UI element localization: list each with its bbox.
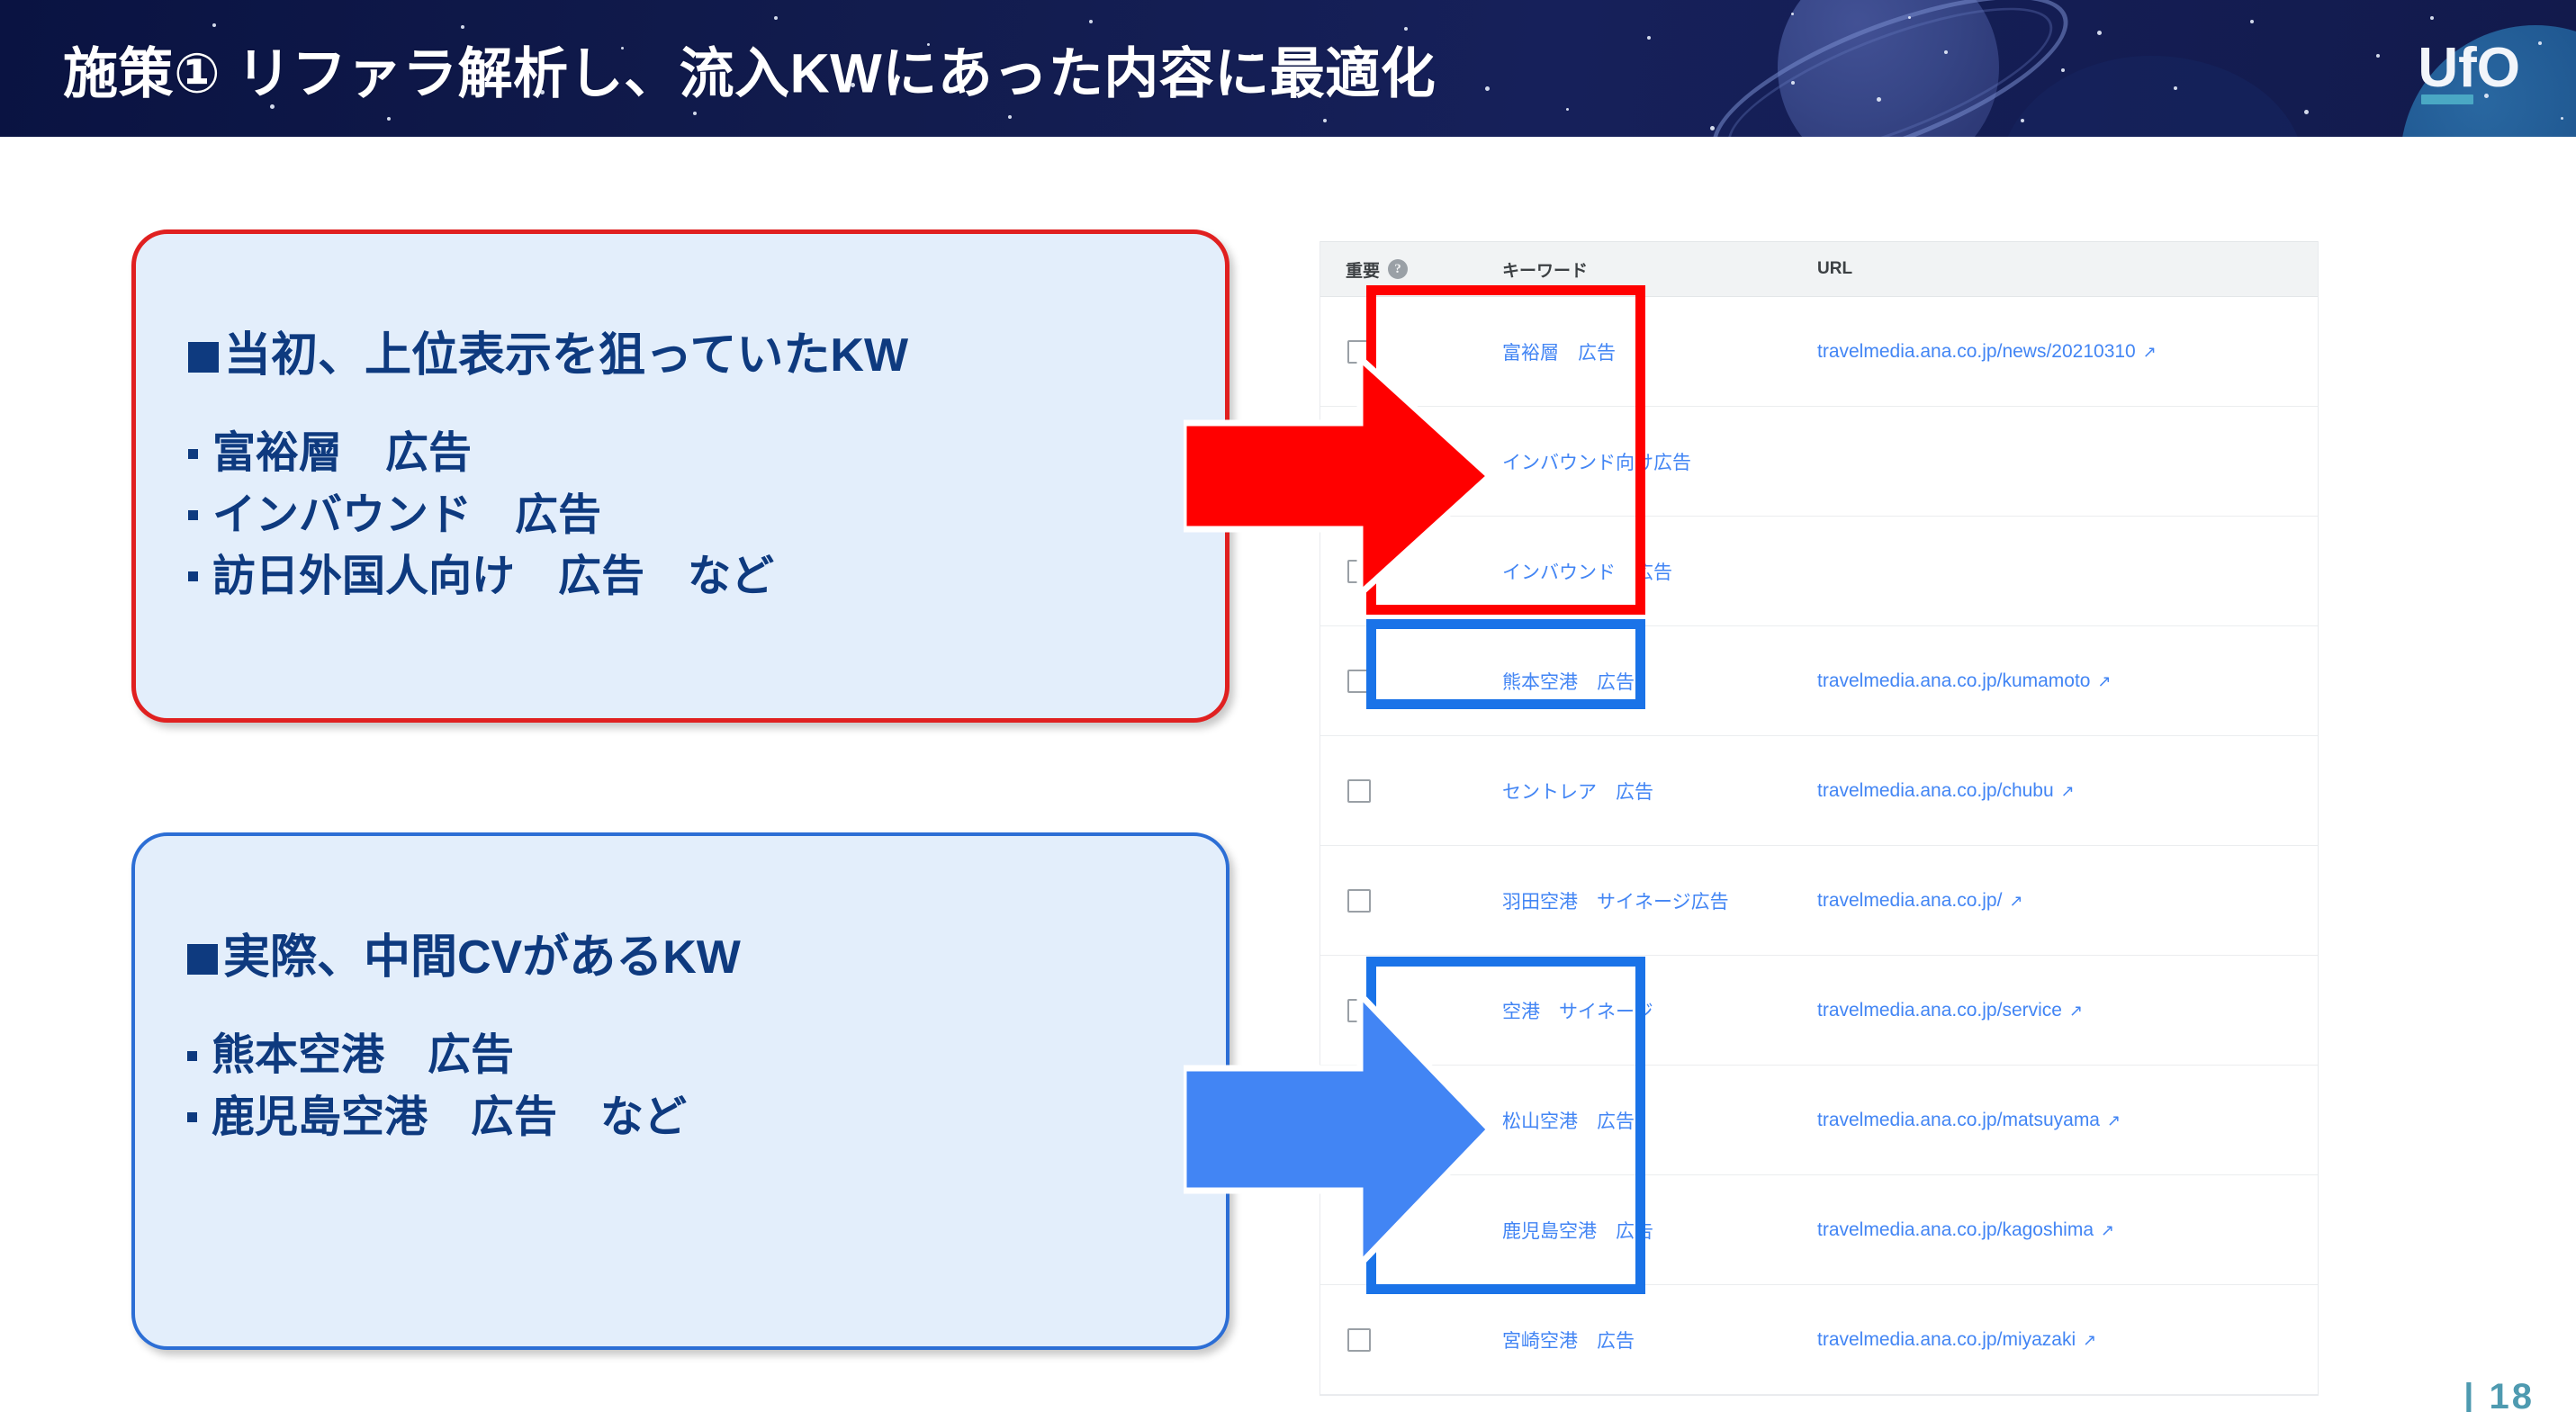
star-icon — [212, 23, 216, 27]
column-header-importance-label: 重要 — [1346, 257, 1380, 282]
star-icon — [1323, 119, 1327, 122]
list-item: 熊本空港 広告 — [187, 1025, 1226, 1086]
bullet-dot-icon — [188, 571, 198, 581]
external-link-icon[interactable]: ↗ — [2143, 343, 2157, 362]
keyword-link[interactable]: 宮崎空港 広告 — [1502, 1331, 1635, 1352]
external-link-icon[interactable]: ↗ — [2009, 892, 2022, 911]
star-icon — [1710, 126, 1715, 130]
nebula-blob — [1998, 56, 2304, 137]
star-icon — [2561, 117, 2563, 120]
callout-1-list: 富裕層 広告 インバウンド 広告 訪日外国人向け 広告 など — [188, 423, 1225, 607]
help-icon[interactable]: ? — [1388, 259, 1408, 279]
url-link[interactable]: travelmedia.ana.co.jp/news/20210310↗ — [1817, 341, 2157, 362]
list-item: インバウンド 広告 — [188, 485, 1225, 546]
column-header-url: URL — [1806, 259, 2318, 279]
url-link[interactable]: travelmedia.ana.co.jp/kagoshima↗ — [1817, 1219, 2114, 1240]
callout-actual-mid-cv-kw: 実際、中間CVがあるKW 熊本空港 広告 鹿児島空港 広告 など — [131, 832, 1229, 1350]
red-arrow-icon — [1184, 358, 1490, 594]
external-link-icon[interactable]: ↗ — [2061, 782, 2075, 801]
page-title: 施策① リファラ解析し、流入KWにあった内容に最適化 — [63, 29, 1436, 109]
list-item: 富裕層 広告 — [188, 423, 1225, 484]
cell-url: travelmedia.ana.co.jp/matsuyama↗ — [1806, 1110, 2318, 1131]
external-link-icon[interactable]: ↗ — [2101, 1221, 2114, 1240]
url-link[interactable]: travelmedia.ana.co.jp/miyazaki↗ — [1817, 1329, 2096, 1350]
external-link-icon[interactable]: ↗ — [2107, 1111, 2121, 1130]
blue-arrow-icon — [1184, 994, 1490, 1264]
keyword-link[interactable]: セントレア 広告 — [1502, 782, 1653, 803]
cell-url: travelmedia.ana.co.jp/chubu↗ — [1806, 780, 2318, 802]
star-icon — [387, 117, 391, 121]
bullet-dot-icon — [187, 1112, 197, 1122]
cell-url: travelmedia.ana.co.jp/news/20210310↗ — [1806, 341, 2318, 363]
star-icon — [2021, 119, 2024, 122]
star-icon — [2304, 110, 2309, 114]
star-icon — [2061, 68, 2065, 72]
cell-importance — [1320, 779, 1455, 803]
bullet-dot-icon — [187, 1051, 197, 1061]
bullet-square-icon — [188, 342, 219, 373]
cell-url: travelmedia.ana.co.jp/↗ — [1806, 890, 2318, 912]
app-logo: UfO — [2418, 40, 2520, 96]
callout-1-heading: 当初、上位表示を狙っていたKW — [188, 328, 1225, 383]
url-link[interactable]: travelmedia.ana.co.jp/matsuyama↗ — [1817, 1110, 2121, 1130]
table-row[interactable]: 羽田空港 サイネージ広告travelmedia.ana.co.jp/↗ — [1320, 846, 2318, 956]
cell-url: travelmedia.ana.co.jp/kumamoto↗ — [1806, 670, 2318, 692]
star-icon — [693, 112, 697, 115]
cell-url: travelmedia.ana.co.jp/kagoshima↗ — [1806, 1219, 2318, 1241]
list-item: 鹿児島空港 広告 など — [187, 1087, 1226, 1148]
star-icon — [1566, 108, 1569, 111]
star-icon — [1944, 50, 1948, 54]
cell-url: travelmedia.ana.co.jp/miyazaki↗ — [1806, 1329, 2318, 1351]
list-item: 訪日外国人向け 広告 など — [188, 546, 1225, 607]
star-icon — [1877, 97, 1881, 102]
url-link[interactable]: travelmedia.ana.co.jp/chubu↗ — [1817, 780, 2075, 801]
cell-keyword: 宮崎空港 広告 — [1455, 1327, 1806, 1354]
external-link-icon[interactable]: ↗ — [2098, 672, 2112, 691]
table-row[interactable]: 宮崎空港 広告travelmedia.ana.co.jp/miyazaki↗ — [1320, 1285, 2318, 1395]
star-icon — [1791, 13, 1794, 15]
bullet-dot-icon — [188, 510, 198, 520]
callout-2-list: 熊本空港 広告 鹿児島空港 広告 など — [187, 1025, 1226, 1147]
importance-checkbox[interactable] — [1347, 1328, 1371, 1352]
url-link[interactable]: travelmedia.ana.co.jp/↗ — [1817, 890, 2023, 911]
external-link-icon[interactable]: ↗ — [2069, 1002, 2083, 1021]
cell-importance — [1320, 889, 1455, 913]
star-icon — [2376, 54, 2380, 58]
star-icon — [1008, 115, 1012, 119]
star-icon — [2097, 31, 2102, 35]
cell-importance — [1320, 1328, 1455, 1352]
star-icon — [1089, 20, 1093, 23]
star-icon — [1485, 86, 1490, 91]
star-icon — [2250, 20, 2254, 23]
star-icon — [1647, 36, 1651, 40]
star-icon — [774, 16, 778, 20]
logo-underline-accent — [2421, 94, 2473, 104]
bullet-square-icon — [187, 944, 218, 975]
column-header-importance: 重要 ? — [1320, 257, 1455, 282]
callout-initial-target-kw: 当初、上位表示を狙っていたKW 富裕層 広告 インバウンド 広告 訪日外国人向け… — [131, 229, 1229, 723]
column-header-keyword: キーワード — [1455, 257, 1806, 282]
star-icon — [1908, 16, 1911, 19]
external-link-icon[interactable]: ↗ — [2083, 1331, 2096, 1350]
cell-keyword: 羽田空港 サイネージ広告 — [1455, 887, 1806, 914]
cell-keyword: セントレア 広告 — [1455, 778, 1806, 805]
url-link[interactable]: travelmedia.ana.co.jp/service↗ — [1817, 1000, 2083, 1021]
header-banner: 施策① リファラ解析し、流入KWにあった内容に最適化 UfO — [0, 0, 2576, 137]
star-icon — [2174, 86, 2177, 90]
url-link[interactable]: travelmedia.ana.co.jp/kumamoto↗ — [1817, 670, 2112, 691]
callout-2-heading: 実際、中間CVがあるKW — [187, 930, 1226, 985]
star-icon — [1791, 81, 1795, 85]
cell-url: travelmedia.ana.co.jp/service↗ — [1806, 1000, 2318, 1021]
importance-checkbox[interactable] — [1347, 889, 1371, 913]
blue-highlight-row-kumamoto — [1366, 619, 1645, 709]
table-row[interactable]: セントレア 広告travelmedia.ana.co.jp/chubu↗ — [1320, 736, 2318, 846]
star-icon — [2430, 16, 2434, 20]
keyword-link[interactable]: 羽田空港 サイネージ広告 — [1502, 892, 1729, 913]
bullet-dot-icon — [188, 449, 198, 459]
app-logo-text: UfO — [2418, 37, 2520, 99]
page-number: | 18 — [2463, 1377, 2535, 1412]
star-icon — [2538, 41, 2542, 45]
importance-checkbox[interactable] — [1347, 779, 1371, 803]
slide-root: 施策① リファラ解析し、流入KWにあった内容に最適化 UfO 当初、上位表示を狙… — [0, 0, 2576, 1412]
